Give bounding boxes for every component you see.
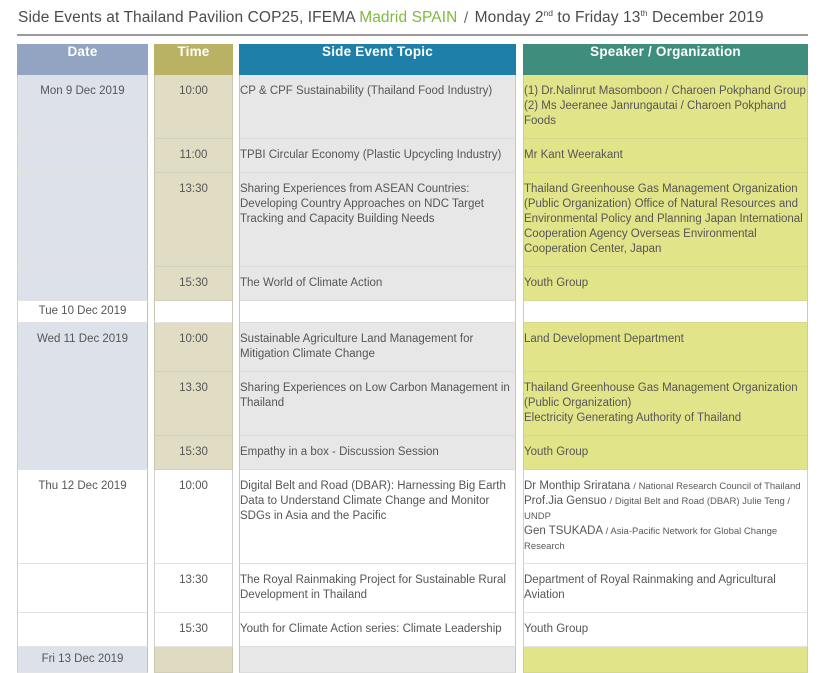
column-header-time: Time (154, 44, 233, 75)
title-main: Side Events at Thailand Pavilion COP25, … (18, 10, 359, 27)
speaker-text: Mr Kant Weerakant (524, 139, 807, 172)
speaker-text: Department of Royal Rainmaking and Agric… (524, 564, 807, 612)
cell-topic: Sharing Experiences from ASEAN Countries… (239, 173, 516, 267)
cell-date: Mon 9 Dec 2019 (17, 75, 148, 139)
topic-text: Sustainable Agriculture Land Management … (240, 323, 515, 371)
time-text: 15:30 (155, 436, 232, 469)
speaker-line: (2) Ms Jeeranee Janrungautai / Charoen P… (524, 99, 807, 129)
cell-topic (239, 301, 516, 323)
table-row[interactable]: 13:30Sharing Experiences from ASEAN Coun… (17, 173, 808, 267)
speaker-line: Department of Royal Rainmaking and Agric… (524, 573, 807, 603)
time-text: 15:30 (155, 267, 232, 300)
cell-speaker: Youth Group (523, 267, 808, 301)
topic-text: The World of Climate Action (240, 267, 515, 300)
cell-topic: Sharing Experiences on Low Carbon Manage… (239, 372, 516, 436)
time-text: 11:00 (155, 139, 232, 172)
cell-speaker (523, 647, 808, 673)
topic-text: Digital Belt and Road (DBAR): Harnessing… (240, 470, 515, 533)
table-row[interactable]: 15:30Youth for Climate Action series: Cl… (17, 613, 808, 647)
speaker-text: Dr Monthip Sriratana / National Research… (524, 470, 807, 563)
title-ordinal-th: th (640, 8, 647, 18)
cell-speaker: Dr Monthip Sriratana / National Research… (523, 470, 808, 564)
speaker-text: Land Development Department (524, 323, 807, 356)
page-header: Side Events at Thailand Pavilion COP25, … (0, 0, 825, 36)
table-row[interactable]: 15:30The World of Climate ActionYouth Gr… (17, 267, 808, 301)
date-text (18, 436, 147, 454)
cell-topic: The Royal Rainmaking Project for Sustain… (239, 564, 516, 613)
topic-text: Sharing Experiences from ASEAN Countries… (240, 173, 515, 236)
column-header-date: Date (17, 44, 148, 75)
speaker-line: Youth Group (524, 276, 807, 291)
date-text: Fri 13 Dec 2019 (18, 647, 147, 672)
cell-date (17, 613, 148, 647)
topic-text: Empathy in a box - Discussion Session (240, 436, 515, 469)
cell-date: Fri 13 Dec 2019 (17, 647, 148, 673)
table-row[interactable]: 11:00TPBI Circular Economy (Plastic Upcy… (17, 139, 808, 173)
column-gap (516, 436, 523, 470)
time-text: 13:30 (155, 564, 232, 597)
table-body: Mon 9 Dec 201910:00CP & CPF Sustainabili… (17, 75, 808, 673)
date-text (18, 267, 147, 285)
speaker-line: Mr Kant Weerakant (524, 148, 807, 163)
cell-time: 10:00 (154, 470, 233, 564)
cell-time: 13.30 (154, 372, 233, 436)
topic-text: TPBI Circular Economy (Plastic Upcycling… (240, 139, 515, 172)
cell-date (17, 372, 148, 436)
cell-time: 10:00 (154, 323, 233, 372)
time-text: 15:30 (155, 613, 232, 646)
speaker-line: Thailand Greenhouse Gas Management Organ… (524, 381, 807, 411)
cell-speaker: Thailand Greenhouse Gas Management Organ… (523, 173, 808, 267)
date-text: Mon 9 Dec 2019 (18, 75, 147, 108)
table-row[interactable]: 15:30Empathy in a box - Discussion Sessi… (17, 436, 808, 470)
cell-topic: The World of Climate Action (239, 267, 516, 301)
schedule-table: Date Time Side Event Topic Speaker / Org… (17, 44, 808, 673)
column-header-topic: Side Event Topic (239, 44, 516, 75)
topic-text (240, 647, 515, 657)
time-text (155, 647, 232, 657)
page-title: Side Events at Thailand Pavilion COP25, … (18, 8, 764, 27)
column-gap (516, 372, 523, 436)
speaker-text: (1) Dr.Nalinrut Masomboon / Charoen Pokp… (524, 75, 807, 138)
cell-topic: CP & CPF Sustainability (Thailand Food I… (239, 75, 516, 139)
time-text: 13.30 (155, 372, 232, 405)
speaker-text (524, 301, 807, 307)
speaker-text: Youth Group (524, 613, 807, 646)
column-gap (516, 613, 523, 647)
table-row[interactable]: Mon 9 Dec 201910:00CP & CPF Sustainabili… (17, 75, 808, 139)
speaker-affiliation: / National Research Council of Thailand (633, 481, 800, 492)
table-row[interactable]: 13:30The Royal Rainmaking Project for Su… (17, 564, 808, 613)
column-gap (516, 301, 523, 323)
speaker-text: Thailand Greenhouse Gas Management Organ… (524, 173, 807, 266)
speaker-text: Thailand Greenhouse Gas Management Organ… (524, 372, 807, 435)
cell-time: 13:30 (154, 564, 233, 613)
header-gap-3 (516, 44, 523, 75)
cell-time (154, 301, 233, 323)
cell-speaker: Youth Group (523, 436, 808, 470)
table-row[interactable]: Wed 11 Dec 201910:00Sustainable Agricult… (17, 323, 808, 372)
cell-date (17, 139, 148, 173)
schedule-table-wrapper: Date Time Side Event Topic Speaker / Org… (17, 44, 808, 673)
cell-time: 10:00 (154, 75, 233, 139)
speaker-line: Youth Group (524, 622, 807, 637)
table-row[interactable]: 13.30Sharing Experiences on Low Carbon M… (17, 372, 808, 436)
cell-speaker: Mr Kant Weerakant (523, 139, 808, 173)
speaker-line: Youth Group (524, 445, 807, 460)
table-head: Date Time Side Event Topic Speaker / Org… (17, 44, 808, 75)
speaker-name: Prof.Jia Gensuo (524, 495, 610, 507)
column-gap (516, 647, 523, 673)
cell-speaker: Thailand Greenhouse Gas Management Organ… (523, 372, 808, 436)
speaker-line: Dr Monthip Sriratana / National Research… (524, 479, 807, 494)
cell-time (154, 647, 233, 673)
cell-topic: Digital Belt and Road (DBAR): Harnessing… (239, 470, 516, 564)
cell-date: Tue 10 Dec 2019 (17, 301, 148, 323)
column-header-speaker: Speaker / Organization (523, 44, 808, 75)
cell-date (17, 564, 148, 613)
header-divider (17, 34, 808, 36)
table-row[interactable]: Fri 13 Dec 2019 (17, 647, 808, 673)
date-text: Tue 10 Dec 2019 (18, 301, 147, 322)
table-row[interactable]: Tue 10 Dec 2019 (17, 301, 808, 323)
speaker-line: Thailand Greenhouse Gas Management Organ… (524, 182, 807, 257)
cell-topic: Sustainable Agriculture Land Management … (239, 323, 516, 372)
time-text: 10:00 (155, 470, 232, 503)
cell-date (17, 173, 148, 267)
speaker-line: Land Development Department (524, 332, 807, 347)
topic-text: CP & CPF Sustainability (Thailand Food I… (240, 75, 515, 108)
cell-time: 15:30 (154, 267, 233, 301)
cell-speaker: Youth Group (523, 613, 808, 647)
cell-topic: TPBI Circular Economy (Plastic Upcycling… (239, 139, 516, 173)
speaker-text (524, 647, 807, 657)
title-ordinal-nd: nd (544, 8, 553, 18)
column-gap (516, 323, 523, 372)
date-text (18, 173, 147, 191)
cell-time: 11:00 (154, 139, 233, 173)
cell-topic: Youth for Climate Action series: Climate… (239, 613, 516, 647)
title-date-mid: to Friday 13 (553, 10, 640, 27)
speaker-name: Dr Monthip Sriratana (524, 480, 633, 492)
date-text: Thu 12 Dec 2019 (18, 470, 147, 503)
speaker-line: (1) Dr.Nalinrut Masomboon / Charoen Pokp… (524, 84, 807, 99)
cell-date: Wed 11 Dec 2019 (17, 323, 148, 372)
cell-date: Thu 12 Dec 2019 (17, 470, 148, 564)
table-row[interactable]: Thu 12 Dec 201910:00Digital Belt and Roa… (17, 470, 808, 564)
title-date-start: Monday 2 (475, 10, 544, 27)
column-gap (516, 173, 523, 267)
speaker-line: Electricity Generating Authority of Thai… (524, 411, 807, 426)
time-text (155, 301, 232, 307)
topic-text: Sharing Experiences on Low Carbon Manage… (240, 372, 515, 420)
cell-time: 15:30 (154, 436, 233, 470)
date-text (18, 613, 147, 631)
time-text: 13:30 (155, 173, 232, 206)
speaker-text: Youth Group (524, 436, 807, 469)
time-text: 10:00 (155, 75, 232, 108)
schedule-page: Side Events at Thailand Pavilion COP25, … (0, 0, 825, 464)
topic-text (240, 301, 515, 307)
title-date-end: December 2019 (648, 10, 764, 27)
header-row: Date Time Side Event Topic Speaker / Org… (17, 44, 808, 75)
speaker-line: Gen TSUKADA / Asia-Pacific Network for G… (524, 524, 807, 554)
title-location: Madrid SPAIN (359, 10, 457, 27)
column-gap (516, 267, 523, 301)
topic-text: Youth for Climate Action series: Climate… (240, 613, 515, 646)
date-text: Wed 11 Dec 2019 (18, 323, 147, 356)
cell-speaker (523, 301, 808, 323)
cell-topic (239, 647, 516, 673)
cell-speaker: (1) Dr.Nalinrut Masomboon / Charoen Pokp… (523, 75, 808, 139)
speaker-name: Gen TSUKADA (524, 525, 606, 537)
date-text (18, 372, 147, 390)
cell-speaker: Land Development Department (523, 323, 808, 372)
speaker-text: Youth Group (524, 267, 807, 300)
cell-topic: Empathy in a box - Discussion Session (239, 436, 516, 470)
column-gap (516, 564, 523, 613)
cell-time: 15:30 (154, 613, 233, 647)
cell-speaker: Department of Royal Rainmaking and Agric… (523, 564, 808, 613)
topic-text: The Royal Rainmaking Project for Sustain… (240, 564, 515, 612)
column-gap (516, 75, 523, 139)
cell-date (17, 267, 148, 301)
title-separator: / (457, 10, 474, 27)
cell-date (17, 436, 148, 470)
speaker-line: Prof.Jia Gensuo / Digital Belt and Road … (524, 494, 807, 524)
date-text (18, 564, 147, 582)
time-text: 10:00 (155, 323, 232, 356)
date-text (18, 139, 147, 157)
cell-time: 13:30 (154, 173, 233, 267)
column-gap (516, 139, 523, 173)
column-gap (516, 470, 523, 564)
